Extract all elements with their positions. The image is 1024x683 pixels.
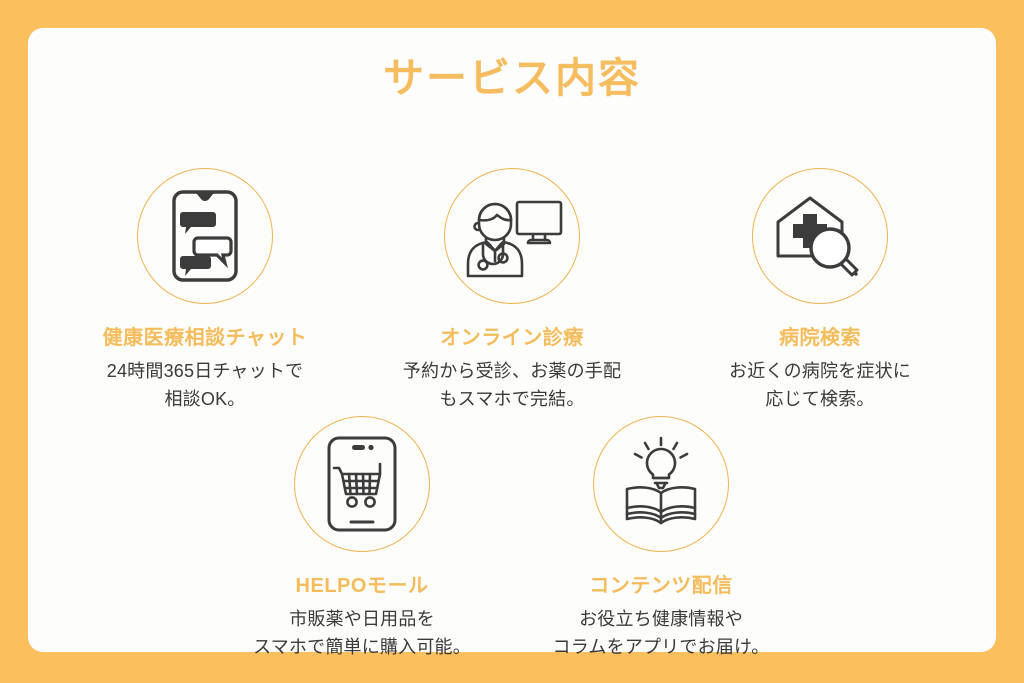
card-title: コンテンツ配信: [531, 574, 791, 598]
book-lightbulb-icon: [615, 436, 707, 532]
desc-line-1: 市販薬や日用品を: [232, 606, 492, 634]
desc-line-1: お近くの病院を症状に: [690, 358, 950, 386]
service-card-online-consultation[interactable]: オンライン診療 予約から受診、お薬の手配 もスマホで完結。: [382, 168, 642, 414]
smartphone-chat-icon: [166, 190, 244, 282]
icon-circle: [294, 416, 430, 552]
desc-line-2: コラムをアプリでお届け。: [531, 634, 791, 662]
desc-line-2: スマホで簡単に購入可能。: [232, 634, 492, 662]
service-card-helpo-mall[interactable]: HELPOモール 市販薬や日用品を スマホで簡単に購入可能。: [232, 416, 492, 662]
card-title: オンライン診療: [382, 326, 642, 350]
desc-line-1: 24時間365日チャットで: [75, 358, 335, 386]
doctor-monitor-icon: [459, 194, 565, 278]
icon-circle: [593, 416, 729, 552]
content-panel: サービス内容: [28, 28, 996, 652]
desc-line-2: 相談OK。: [75, 386, 335, 414]
service-card-hospital-search[interactable]: 病院検索 お近くの病院を症状に 応じて検索。: [690, 168, 950, 414]
orange-frame: サービス内容: [0, 0, 1024, 683]
icon-circle: [444, 168, 580, 304]
hospital-search-icon: [772, 194, 868, 278]
card-description: お役立ち健康情報や コラムをアプリでお届け。: [531, 606, 791, 662]
icon-circle: [137, 168, 273, 304]
smartphone-cart-icon: [325, 436, 399, 532]
card-description: 24時間365日チャットで 相談OK。: [75, 358, 335, 414]
card-title: HELPOモール: [232, 574, 492, 598]
desc-line-2: 応じて検索。: [690, 386, 950, 414]
desc-line-1: 予約から受診、お薬の手配: [382, 358, 642, 386]
card-title: 健康医療相談チャット: [75, 326, 335, 350]
page-title: サービス内容: [28, 58, 996, 99]
desc-line-2: もスマホで完結。: [382, 386, 642, 414]
card-title: 病院検索: [690, 326, 950, 350]
service-card-chat[interactable]: 健康医療相談チャット 24時間365日チャットで 相談OK。: [75, 168, 335, 414]
service-card-content-delivery[interactable]: コンテンツ配信 お役立ち健康情報や コラムをアプリでお届け。: [531, 416, 791, 662]
card-description: 市販薬や日用品を スマホで簡単に購入可能。: [232, 606, 492, 662]
card-description: お近くの病院を症状に 応じて検索。: [690, 358, 950, 414]
card-description: 予約から受診、お薬の手配 もスマホで完結。: [382, 358, 642, 414]
desc-line-1: お役立ち健康情報や: [531, 606, 791, 634]
icon-circle: [752, 168, 888, 304]
